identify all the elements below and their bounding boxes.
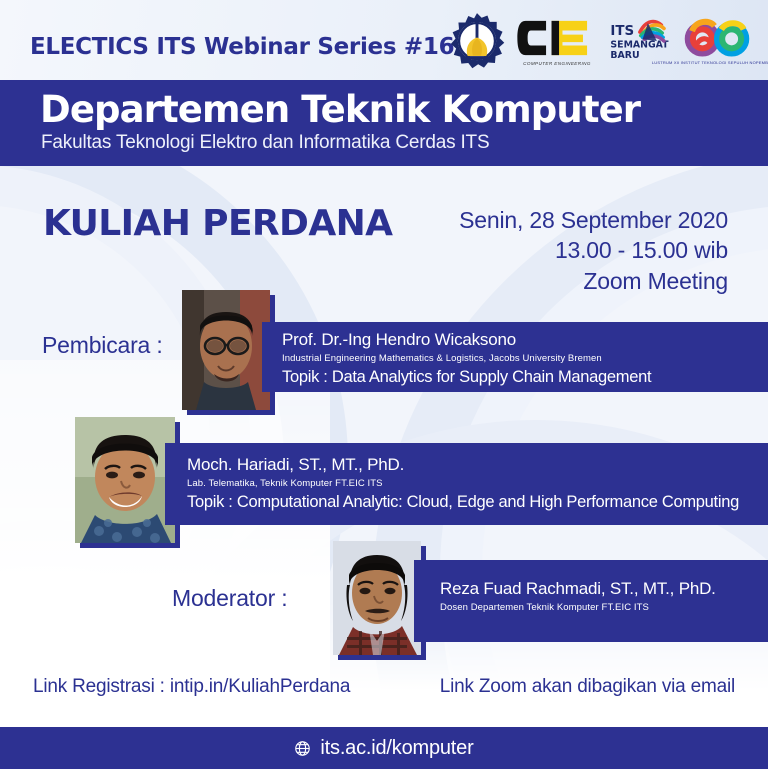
speaker-1-info: Prof. Dr.-Ing Hendro Wicaksono Industria… xyxy=(262,322,768,392)
schedule-date: Senin, 28 September 2020 xyxy=(459,205,728,235)
department-band: Departemen Teknik Komputer Fakultas Tekn… xyxy=(0,80,768,166)
department-subtitle: Fakultas Teknologi Elektro dan Informati… xyxy=(41,132,489,154)
department-title: Departemen Teknik Komputer xyxy=(40,88,640,131)
moderator-photo xyxy=(333,541,421,655)
its-60-anniversary-logo-sub: LUSTRUM XII INSTITUT TEKNOLOGI SEPULUH N… xyxy=(652,60,768,65)
computer-engineering-logo: COMPUTER ENGINEERING xyxy=(516,13,598,69)
speaker-1-name: Prof. Dr.-Ing Hendro Wicaksono xyxy=(282,331,651,350)
moderator-info: Reza Fuad Rachmadi, ST., MT., PhD. Dosen… xyxy=(414,560,768,642)
footer-bar: its.ac.id/komputer xyxy=(0,727,768,769)
series-title: ELECTICS ITS Webinar Series #16 xyxy=(30,34,454,60)
speaker-1-photo xyxy=(182,290,270,410)
registration-link[interactable]: Link Registrasi : intip.in/KuliahPerdana xyxy=(33,676,350,698)
speaker-2-affiliation: Lab. Telematika, Teknik Komputer FT.EIC … xyxy=(187,478,739,490)
computer-engineering-logo-sub: COMPUTER ENGINEERING xyxy=(523,61,591,66)
globe-icon xyxy=(294,740,311,757)
schedule-time: 13.00 - 15.00 wib xyxy=(459,235,728,265)
speaker-2-photo xyxy=(75,417,175,543)
footer-website[interactable]: its.ac.id/komputer xyxy=(320,737,473,760)
its-logo xyxy=(448,12,506,70)
speaker-2-info: Moch. Hariadi, ST., MT., PhD. Lab. Telem… xyxy=(165,443,768,525)
svg-text:SEMANGAT: SEMANGAT xyxy=(610,39,669,50)
speaker-1-topic: Topik : Data Analytics for Supply Chain … xyxy=(282,368,651,387)
speaker-label: Pembicara : xyxy=(42,332,163,359)
svg-text:BARU: BARU xyxy=(610,50,639,61)
its-60-anniversary-logo: LUSTRUM XII INSTITUT TEKNOLOGI SEPULUH N… xyxy=(680,13,754,69)
schedule-platform: Zoom Meeting xyxy=(459,266,728,296)
svg-text:ITS: ITS xyxy=(610,24,634,39)
logo-group: COMPUTER ENGINEERING ITS SEMANGAT BARU xyxy=(448,10,754,72)
links-row: Link Registrasi : intip.in/KuliahPerdana… xyxy=(0,676,768,698)
event-schedule: Senin, 28 September 2020 13.00 - 15.00 w… xyxy=(459,205,728,296)
speaker-2-topic: Topik : Computational Analytic: Cloud, E… xyxy=(187,493,739,512)
moderator-label: Moderator : xyxy=(172,585,287,612)
webinar-poster: ELECTICS ITS Webinar Series #16 xyxy=(0,0,768,769)
speaker-2-name: Moch. Hariadi, ST., MT., PhD. xyxy=(187,456,739,475)
moderator-name: Reza Fuad Rachmadi, ST., MT., PhD. xyxy=(440,580,716,599)
zoom-note: Link Zoom akan dibagikan via email xyxy=(440,676,735,698)
moderator-affiliation: Dosen Departemen Teknik Komputer FT.EIC … xyxy=(440,602,716,614)
event-headline: KULIAH PERDANA xyxy=(43,203,392,244)
speaker-1-affiliation: Industrial Engineering Mathematics & Log… xyxy=(282,353,651,365)
